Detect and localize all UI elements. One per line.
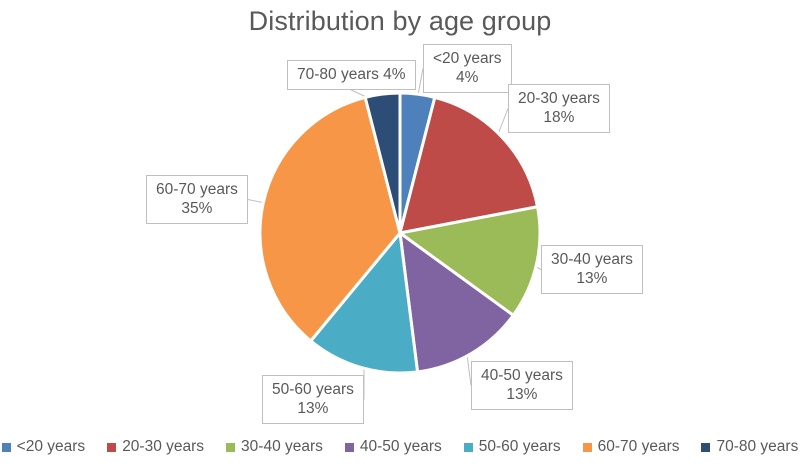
legend-item-label: 40-50 years	[360, 438, 442, 456]
legend-item[interactable]: 60-70 years	[583, 438, 680, 456]
data-label-value: 4%	[433, 68, 502, 87]
legend-swatch-icon	[345, 443, 354, 452]
legend-item-label: 20-30 years	[122, 438, 204, 456]
legend-item[interactable]: <20 years	[2, 438, 86, 456]
data-label[interactable]: 70-80 years 4%	[287, 60, 416, 90]
legend-item-label: 70-80 years	[716, 438, 798, 456]
legend-item-label: <20 years	[17, 438, 86, 456]
data-label-value: 13%	[272, 399, 354, 418]
pie-slices	[260, 93, 540, 373]
legend-item[interactable]: 30-40 years	[226, 438, 323, 456]
data-label-category: 70-80 years	[297, 66, 379, 83]
data-label[interactable]: 60-70 years35%	[146, 175, 248, 224]
data-label[interactable]: 50-60 years13%	[262, 375, 364, 424]
data-label[interactable]: <20 years4%	[423, 44, 512, 93]
chart-legend: <20 years20-30 years30-40 years40-50 yea…	[0, 438, 800, 456]
legend-swatch-icon	[2, 443, 11, 452]
legend-swatch-icon	[583, 443, 592, 452]
data-label-category: 20-30 years	[518, 89, 600, 108]
legend-item[interactable]: 20-30 years	[107, 438, 204, 456]
legend-item-label: 60-70 years	[598, 438, 680, 456]
data-label-category: 40-50 years	[481, 366, 563, 385]
data-label[interactable]: 40-50 years13%	[471, 361, 573, 410]
data-label-value: 4%	[379, 66, 406, 83]
data-label[interactable]: 20-30 years18%	[508, 84, 610, 133]
data-label[interactable]: 30-40 years13%	[541, 245, 643, 294]
data-label-value: 13%	[481, 385, 563, 404]
data-label-category: <20 years	[433, 49, 502, 68]
legend-item[interactable]: 40-50 years	[345, 438, 442, 456]
data-label-value: 13%	[551, 269, 633, 288]
legend-item-label: 50-60 years	[479, 438, 561, 456]
data-label-value: 35%	[156, 199, 238, 218]
data-label-category: 50-60 years	[272, 380, 354, 399]
legend-swatch-icon	[464, 443, 473, 452]
legend-swatch-icon	[226, 443, 235, 452]
pie-chart: Distribution by age group <20 years4%20-…	[0, 0, 800, 468]
legend-swatch-icon	[701, 443, 710, 452]
data-label-category: 30-40 years	[551, 250, 633, 269]
legend-swatch-icon	[107, 443, 116, 452]
data-label-value: 18%	[518, 108, 600, 127]
legend-item[interactable]: 70-80 years	[701, 438, 798, 456]
legend-item[interactable]: 50-60 years	[464, 438, 561, 456]
legend-item-label: 30-40 years	[241, 438, 323, 456]
data-label-category: 60-70 years	[156, 180, 238, 199]
